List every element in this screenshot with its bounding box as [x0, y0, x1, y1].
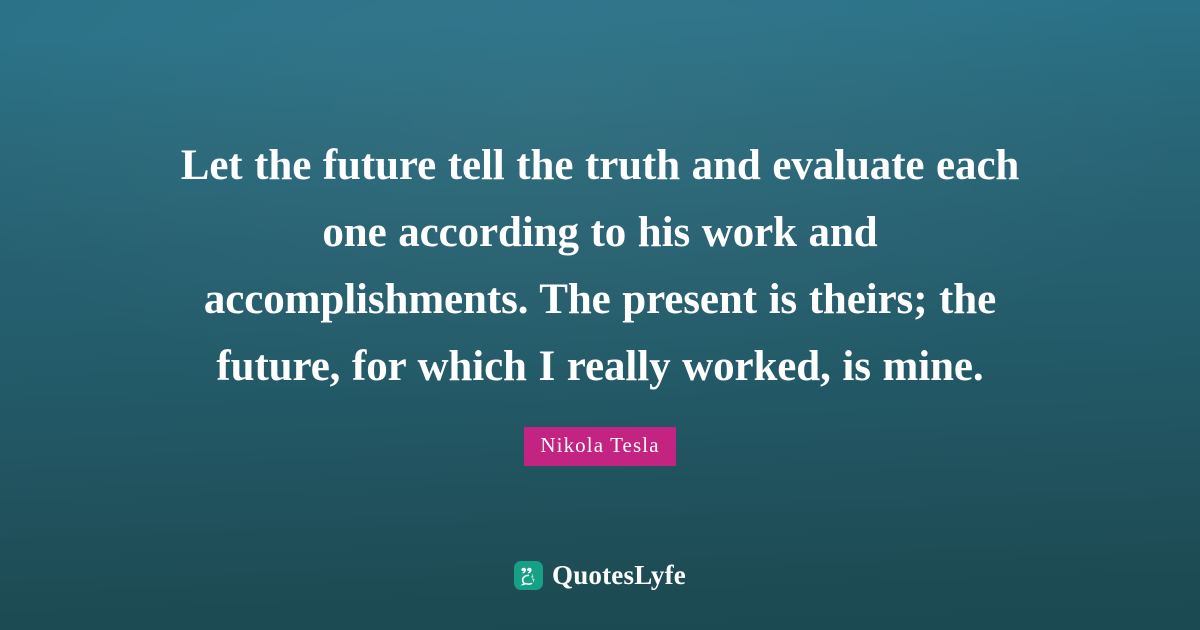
- quote-bubble-icon: [514, 561, 543, 590]
- quote-text: Let the future tell the truth and evalua…: [170, 132, 1030, 400]
- brand-logo[interactable]: QuotesLyfe: [0, 561, 1200, 590]
- author-badge[interactable]: Nikola Tesla: [524, 427, 675, 466]
- quote-card: Let the future tell the truth and evalua…: [0, 0, 1200, 630]
- author-row: Nikola Tesla: [0, 427, 1200, 466]
- quote-block: Let the future tell the truth and evalua…: [170, 132, 1030, 400]
- brand-name: QuotesLyfe: [552, 562, 686, 589]
